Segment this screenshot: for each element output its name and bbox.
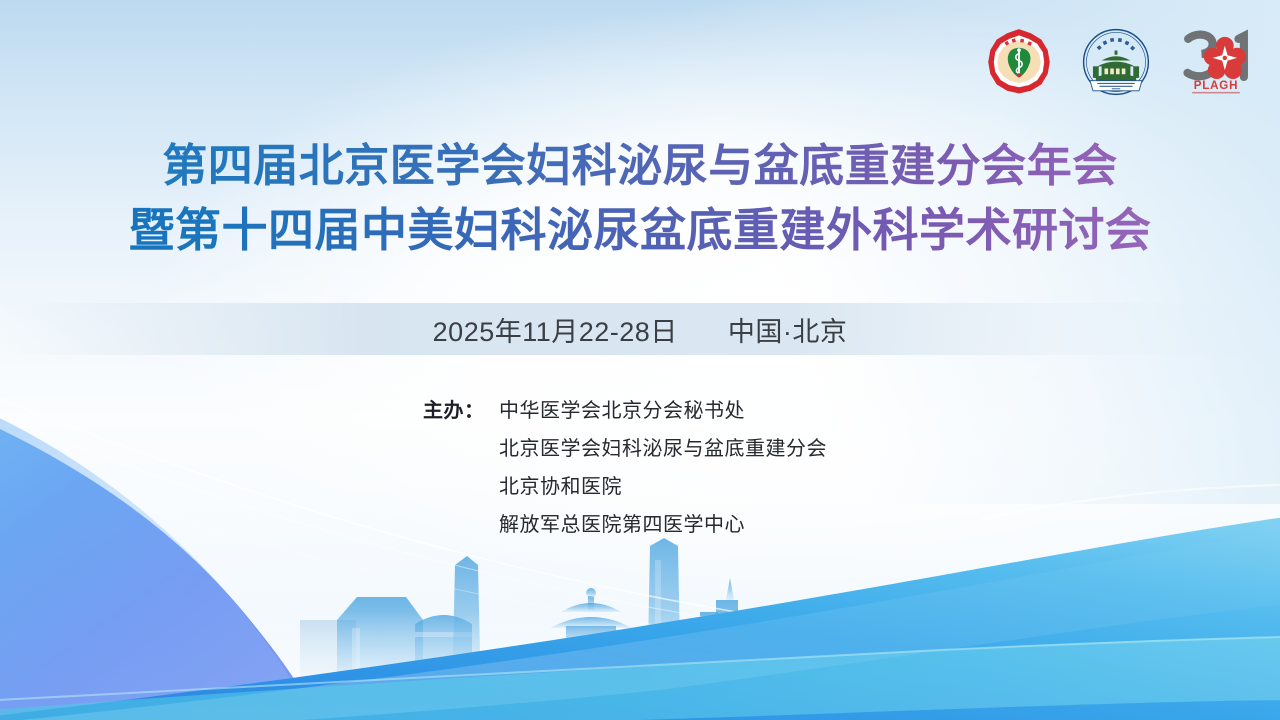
organizer-row: 北京协和医院	[423, 468, 827, 506]
beijing-medical-association-logo	[984, 27, 1054, 97]
plagh-301-logo: PLAGH	[1178, 28, 1254, 96]
conference-poster: PLAGH 第四届北京医学会妇科泌尿与盆底重建分会年会 暨第十四届中美妇科泌尿盆…	[0, 0, 1280, 720]
conference-date: 2025年11月22-28日	[433, 317, 678, 347]
logo-row: PLAGH	[984, 26, 1254, 98]
organizer-row: 北京医学会妇科泌尿与盆底重建分会	[423, 430, 827, 468]
plagh-wordmark: PLAGH	[1194, 80, 1239, 92]
date-location-line: 2025年11月22-28日 中国·北京	[0, 310, 1280, 349]
peking-union-medical-college-hospital-logo	[1080, 26, 1152, 98]
conference-title-line-2: 暨第十四届中美妇科泌尿盆底重建外科学术研讨会	[0, 198, 1280, 262]
organizer-name: 中华医学会北京分会秘书处	[499, 392, 745, 430]
organizer-name: 解放军总医院第四医学中心	[499, 506, 745, 544]
top-arc-highlight	[980, 484, 1280, 520]
background-decoration	[0, 0, 1280, 720]
organizer-row: 主办： 中华医学会北京分会秘书处	[423, 392, 827, 430]
left-wave-ribbon-light	[0, 392, 318, 720]
organizer-list: 主办： 中华医学会北京分会秘书处 北京医学会妇科泌尿与盆底重建分会 北京协和医院…	[423, 392, 827, 544]
organizer-name: 北京协和医院	[499, 468, 622, 506]
title-block: 第四届北京医学会妇科泌尿与盆底重建分会年会 暨第十四届中美妇科泌尿盆底重建外科学…	[0, 134, 1280, 262]
conference-title-line-1: 第四届北京医学会妇科泌尿与盆底重建分会年会	[0, 134, 1280, 198]
organizer-label: 主办：	[423, 392, 499, 430]
organizer-name: 北京医学会妇科泌尿与盆底重建分会	[499, 430, 827, 468]
conference-location: 中国·北京	[728, 317, 848, 347]
organizer-row: 解放军总医院第四医学中心	[423, 506, 827, 544]
